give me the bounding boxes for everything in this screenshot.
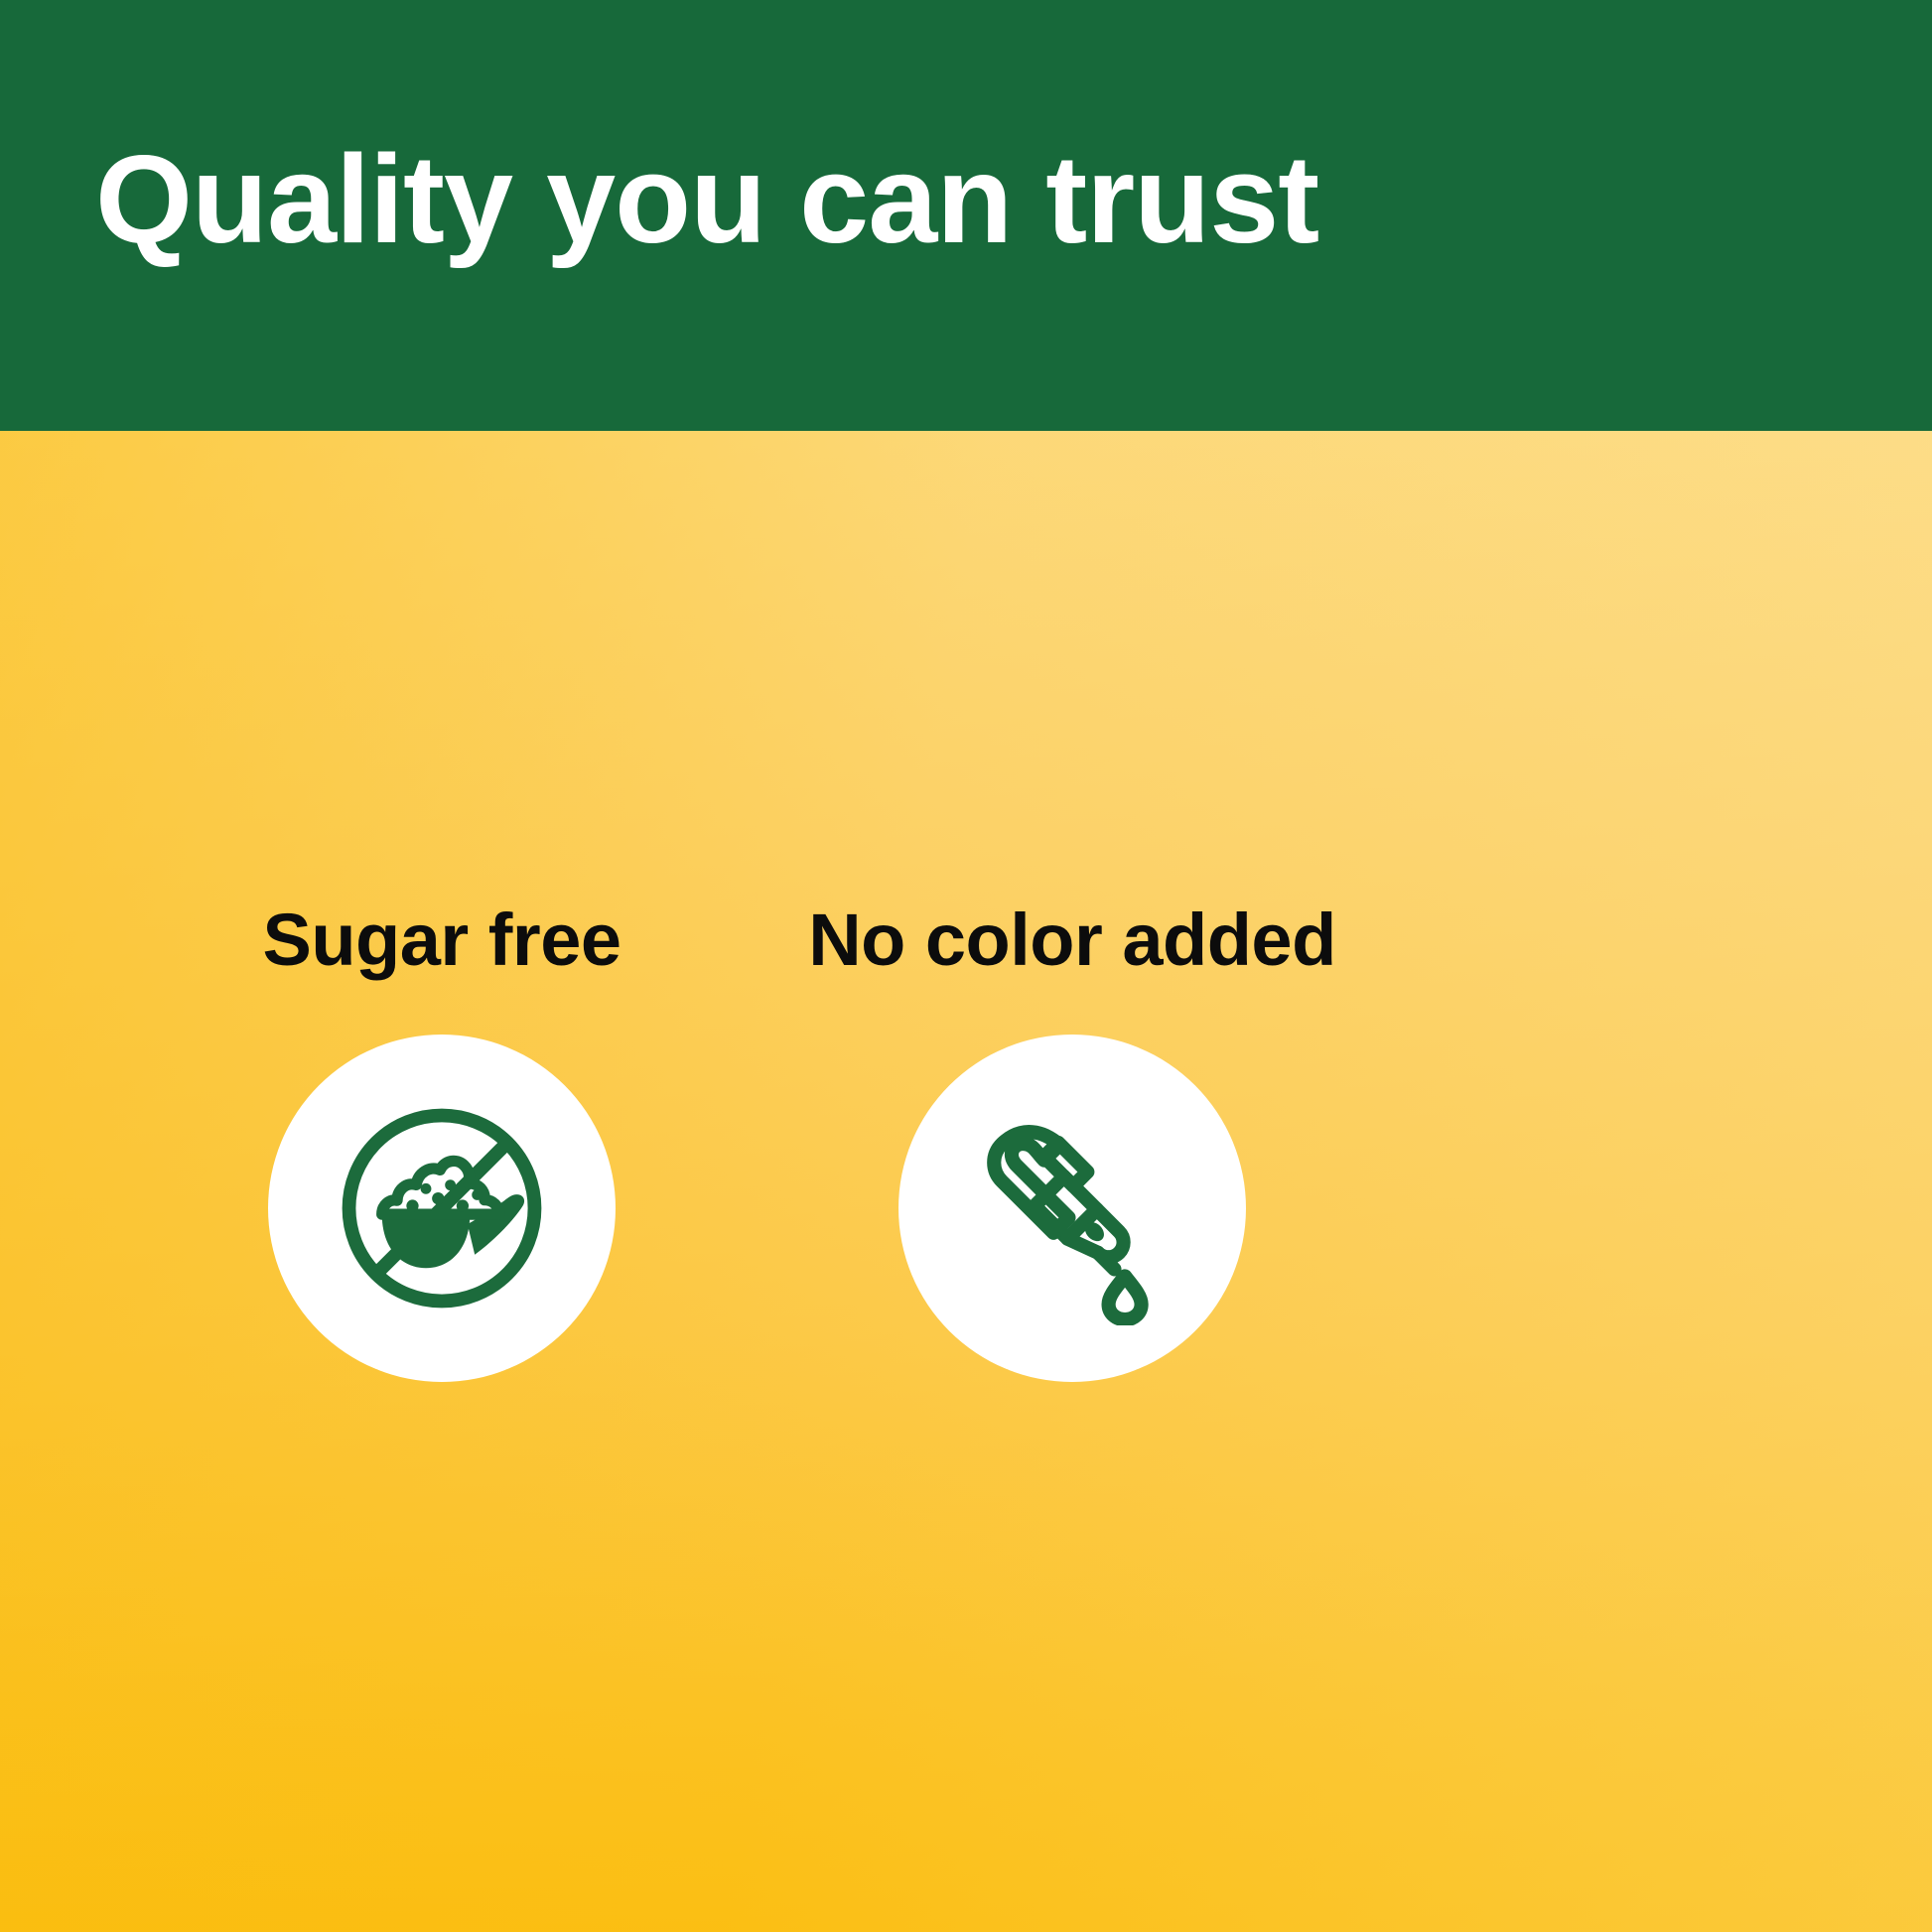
icon-disc-sugar-free: [268, 1035, 616, 1382]
feature-label-no-color-added: No color added: [725, 897, 1420, 983]
feature-list: Sugar free: [0, 431, 1932, 1932]
header-band: Quality you can trust: [0, 0, 1932, 431]
dropper-droplet-shape: [1109, 1276, 1142, 1319]
page-title: Quality you can trust: [95, 125, 1863, 274]
icon-disc-no-color-added: [898, 1035, 1246, 1382]
dropper-pipette-icon: [955, 1091, 1189, 1325]
feature-item-sugar-free: Sugar free: [94, 431, 789, 1523]
no-sugar-spoon-icon: [320, 1086, 564, 1330]
feature-item-no-color-added: No color added: [725, 431, 1420, 1523]
promo-banner: Quality you can trust Sugar free: [0, 0, 1932, 1932]
feature-label-sugar-free: Sugar free: [94, 897, 789, 983]
